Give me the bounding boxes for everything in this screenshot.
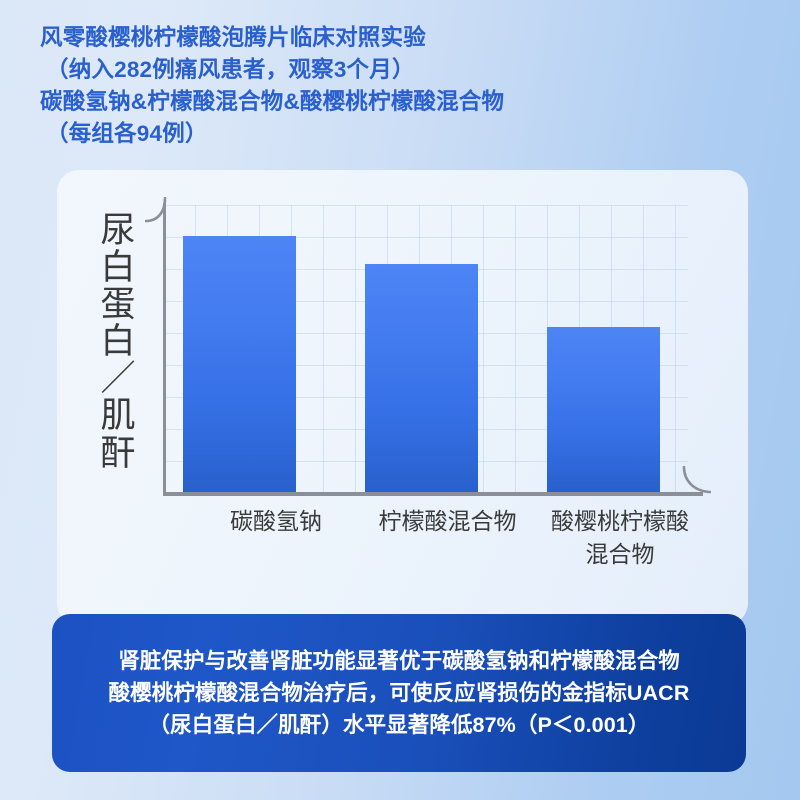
x-axis-label-tart-cherry-citric-mixture: 酸樱桃柠檬酸 混合物: [520, 505, 720, 572]
y-axis-label: 尿 白 蛋 白 ／ 肌 酐: [96, 212, 140, 472]
conclusion-line-1: 肾脏保护与改善肾脏功能显著优于碳酸氢钠和柠檬酸混合物: [118, 645, 680, 677]
y-axis-label-char-5: ／: [96, 360, 140, 397]
conclusion-line-3: （尿白蛋白／肌酐）水平显著降低87%（P＜0.001）: [149, 709, 650, 741]
y-axis-label-char-7: 酐: [96, 435, 140, 472]
bar-tart-cherry-citric-mixture: [547, 327, 660, 492]
x-axis-line: [163, 492, 703, 496]
bar-sodium-bicarbonate: [183, 236, 296, 492]
headline-line-3: 碳酸氢钠&柠檬酸混合物&酸樱桃柠檬酸混合物: [40, 86, 760, 118]
x-axis-labels: 碳酸氢钠 柠檬酸混合物 酸樱桃柠檬酸 混合物: [0, 505, 800, 585]
x-axis-label-text: 酸樱桃柠檬酸: [520, 505, 720, 538]
conclusion-line-2: 酸樱桃柠檬酸混合物治疗后，可使反应肾损伤的金指标UACR: [109, 677, 690, 709]
bar-series: [163, 205, 688, 492]
headline-line-1: 风零酸樱桃柠檬酸泡腾片临床对照实验: [40, 22, 760, 54]
y-axis-label-char-6: 肌: [96, 397, 140, 434]
headline-line-2: （纳入282例痛风患者，观察3个月）: [40, 54, 760, 86]
y-axis-label-char-2: 白: [96, 249, 140, 286]
conclusion-panel: 肾脏保护与改善肾脏功能显著优于碳酸氢钠和柠檬酸混合物 酸樱桃柠檬酸混合物治疗后，…: [52, 614, 746, 772]
headline-block: 风零酸樱桃柠檬酸泡腾片临床对照实验 （纳入282例痛风患者，观察3个月） 碳酸氢…: [40, 22, 760, 150]
y-axis-label-char-1: 尿: [96, 212, 140, 249]
y-axis-label-char-4: 白: [96, 323, 140, 360]
x-axis-label-text-2: 混合物: [520, 538, 720, 571]
bar-citric-acid-mixture: [365, 264, 478, 492]
y-axis-label-char-3: 蛋: [96, 286, 140, 323]
headline-line-4: （每组各94例）: [40, 118, 760, 150]
